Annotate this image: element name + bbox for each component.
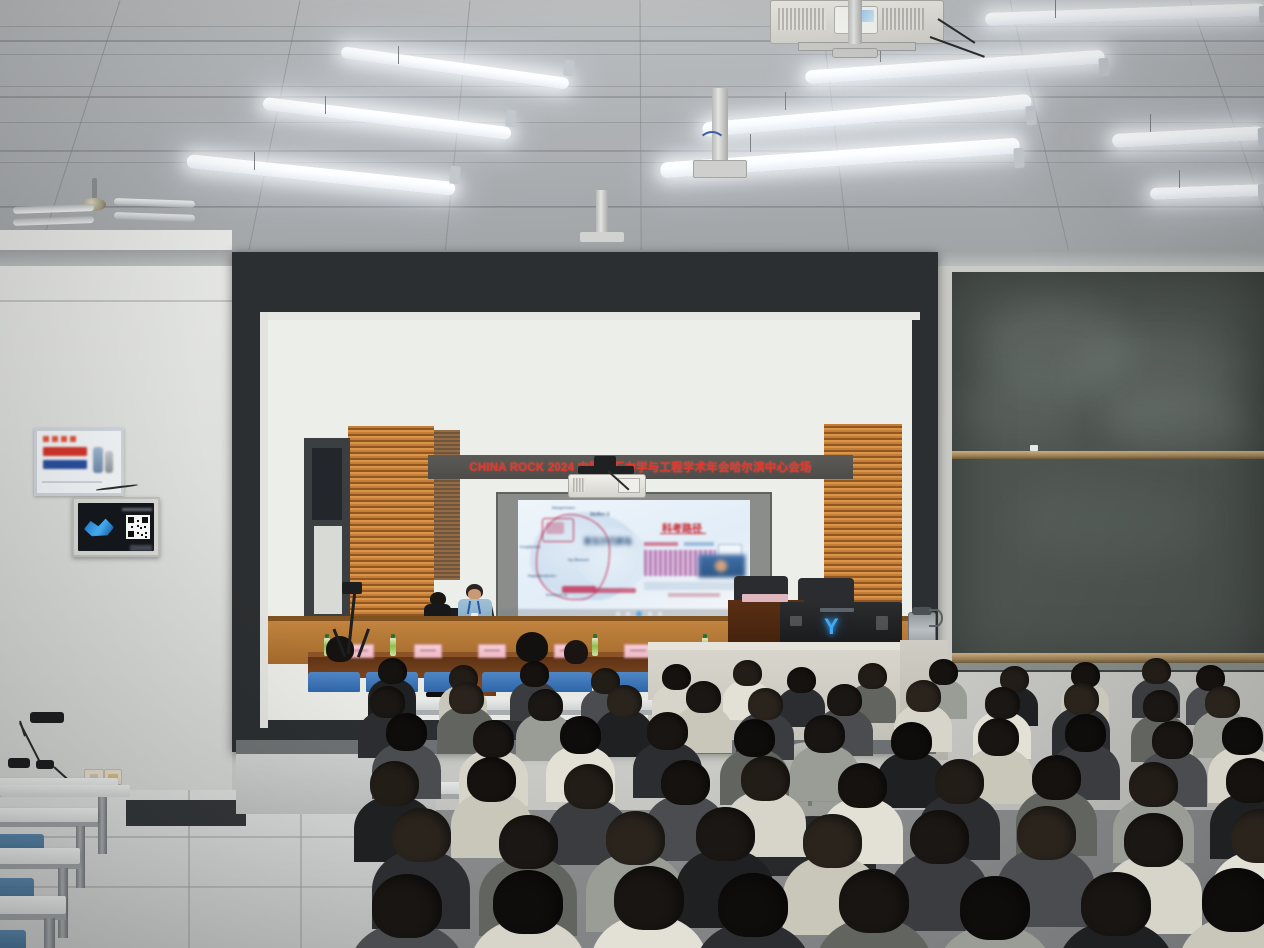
tube-hanger — [750, 134, 751, 152]
audience-head — [718, 873, 788, 937]
power-adapter-lower — [8, 758, 30, 768]
tube-hanger — [398, 46, 399, 64]
audience-head — [891, 722, 932, 760]
audience-head — [520, 661, 549, 687]
audience-member — [839, 869, 967, 948]
audience-member — [1202, 868, 1264, 948]
fluorescent-tube — [1112, 126, 1264, 148]
audience-head — [378, 658, 407, 684]
front-bench-top — [0, 785, 130, 797]
audience-head — [372, 874, 442, 938]
audience-head — [473, 720, 514, 758]
audience-head — [935, 759, 984, 804]
table-placard — [742, 594, 788, 602]
audience-head — [827, 684, 862, 716]
audience-head — [392, 808, 451, 862]
audience-head — [686, 681, 721, 713]
stage-ceiling-projector — [568, 456, 644, 502]
tube-hanger — [1055, 0, 1056, 18]
tube-end-cap — [449, 166, 461, 185]
audience-head — [1124, 813, 1183, 867]
tube-hanger — [325, 96, 326, 114]
tube-end-cap — [1259, 6, 1264, 23]
map-label-3: Ny-Ålesund — [568, 557, 589, 562]
audience-head — [910, 810, 969, 864]
audience-head — [564, 764, 613, 809]
audience-head — [1142, 658, 1171, 684]
equipment-logo: Y — [824, 616, 839, 638]
qr-code — [126, 515, 150, 539]
map-label-0: Moffen ö — [590, 512, 609, 518]
ceiling-projector-rear — [770, 0, 945, 58]
fluorescent-tube — [985, 3, 1264, 26]
audience-head — [606, 811, 665, 865]
tube-hanger — [254, 152, 255, 170]
screen-left-edge — [260, 312, 268, 728]
stage-chair — [308, 672, 360, 692]
audience-head — [661, 760, 710, 805]
map-label-2: Kongsfjorden — [520, 545, 541, 549]
audience-head — [696, 807, 755, 861]
audience-head — [960, 876, 1030, 940]
power-adapter-upper — [30, 712, 64, 723]
water-bottle — [390, 638, 396, 656]
chalkboard — [952, 272, 1264, 672]
audience-head — [978, 718, 1019, 756]
audience-head — [1032, 755, 1081, 800]
map-label-1: Biskayerhuken — [552, 506, 575, 510]
water-bottle — [592, 638, 598, 656]
tube-end-cap — [1013, 148, 1024, 169]
fluorescent-tube — [340, 46, 569, 90]
tube-end-cap — [1258, 128, 1264, 146]
tube-end-cap — [1098, 58, 1109, 77]
ceiling-drop-pole-2 — [596, 190, 608, 238]
audience-head — [1065, 714, 1106, 752]
blue-cable-loop — [698, 131, 726, 157]
fan-blade — [13, 216, 94, 226]
audience-head — [1081, 872, 1151, 936]
audience-head — [804, 715, 845, 753]
student-desk-row-4 — [0, 896, 120, 948]
tube-end-cap — [1258, 184, 1264, 200]
power-adapter-lower-2 — [36, 760, 54, 769]
audience-head — [906, 680, 941, 712]
wall-seam — [0, 300, 232, 302]
audience-head — [493, 870, 563, 934]
audience-head — [1152, 721, 1193, 759]
audience-head — [734, 719, 775, 757]
fan-blade — [13, 204, 94, 214]
audience-head — [741, 756, 790, 801]
audience-head — [499, 815, 558, 869]
tube-end-cap — [505, 109, 517, 127]
projector-drop-pole — [712, 88, 728, 170]
audience-head — [467, 757, 516, 802]
audience-head — [1226, 758, 1264, 803]
audience-head — [1064, 683, 1099, 715]
tube-end-cap — [1025, 106, 1037, 126]
chalk-stick — [1030, 445, 1038, 451]
camera-head — [342, 582, 362, 594]
audience-head — [1129, 762, 1178, 807]
screen-top-edge — [260, 312, 920, 320]
audience-head — [803, 814, 862, 868]
audience-seating — [380, 655, 1264, 948]
audience-head — [1017, 806, 1076, 860]
map-label-4: Magdalenefjorden — [528, 574, 556, 578]
audience-member — [960, 876, 1088, 948]
audience-head — [370, 761, 419, 806]
wall-info-display[interactable] — [72, 497, 160, 557]
audience-head — [1143, 690, 1178, 722]
fan-blade — [114, 212, 195, 222]
floor-skirting-2 — [126, 800, 246, 826]
chalk-rail-upper — [952, 451, 1264, 459]
audience-head — [839, 869, 909, 933]
pole-plate-2 — [580, 232, 624, 242]
audience-head — [1205, 686, 1240, 718]
audience-head — [386, 713, 427, 751]
audience-head — [985, 687, 1020, 719]
slide-region-label: 斯瓦尔巴群岛 — [584, 536, 632, 547]
audience-head — [607, 685, 642, 717]
audience-head — [614, 866, 684, 930]
pole-plate — [693, 160, 747, 178]
lecture-hall-photo: CHINA ROCK 2024 中国岩石力学与工程学术年会哈尔滨中心会场 Mof… — [0, 0, 1264, 948]
audience-head — [748, 688, 783, 720]
audience-head — [449, 682, 484, 714]
audience-head — [560, 716, 601, 754]
tube-hanger — [785, 92, 786, 110]
tube-end-cap — [563, 59, 575, 76]
framed-safety-poster — [34, 428, 124, 496]
audience-head — [1222, 717, 1263, 755]
fan-blade — [114, 198, 195, 208]
tube-hanger — [1150, 114, 1151, 132]
audience-head — [1231, 809, 1264, 863]
map-label-5: Smeerenburg — [546, 593, 567, 597]
audience-head — [838, 763, 887, 808]
fluorescent-tube — [1150, 184, 1264, 200]
tube-hanger — [1179, 170, 1180, 188]
audience-head — [647, 712, 688, 750]
fluorescent-tube — [262, 97, 512, 140]
audience-head — [1202, 868, 1264, 932]
audience-head — [528, 689, 563, 721]
fluorescent-tube — [702, 94, 1032, 138]
